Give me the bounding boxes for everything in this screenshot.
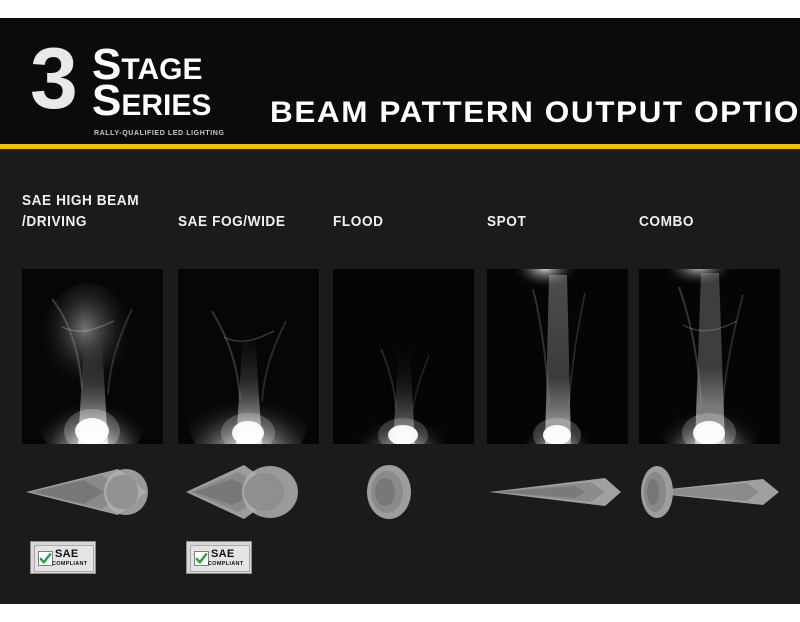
- beam-diagram-spot-shape: [487, 461, 635, 523]
- infographic-card: 3 STAGE SERIES RALLY-QUALIFIED LED LIGHT…: [0, 18, 800, 604]
- beam-diagram-flood-shape: [333, 461, 481, 523]
- beam-column-spot: SPOT: [487, 149, 635, 604]
- beam-column-combo: COMBO: [639, 149, 787, 604]
- sae-badge-title: SAE: [211, 548, 235, 560]
- logo-numeral-3: 3: [30, 36, 75, 122]
- beam-column-driving: SAE HIGH BEAM /DRIVING: [22, 149, 170, 604]
- beam-photo-driving: [22, 269, 163, 444]
- beam-photo-wide: [178, 269, 319, 444]
- beam-label-driving: SAE HIGH BEAM /DRIVING: [22, 191, 177, 233]
- sae-badge-subtitle: COMPLIANT: [52, 561, 87, 567]
- beam-column-flood: FLOOD: [333, 149, 481, 604]
- beam-label-combo: COMBO: [639, 212, 794, 233]
- check-icon: [38, 551, 53, 566]
- beam-column-wide: SAE FOG/WIDE: [178, 149, 326, 604]
- beam-photo-flood: [333, 269, 474, 444]
- header-bar: 3 STAGE SERIES RALLY-QUALIFIED LED LIGHT…: [0, 18, 800, 144]
- beam-photo-spot: [487, 269, 628, 444]
- sae-badge-title: SAE: [55, 548, 79, 560]
- beam-diagram-flood: [333, 461, 481, 523]
- beam-diagram-combo-shape: [639, 461, 787, 523]
- beam-diagram-combo: [639, 461, 787, 523]
- check-icon: [194, 551, 209, 566]
- sae-compliant-badge-wide: SAE COMPLIANT: [186, 541, 252, 574]
- beam-pattern-infographic: 3 STAGE SERIES RALLY-QUALIFIED LED LIGHT…: [0, 0, 800, 622]
- logo-tagline: RALLY-QUALIFIED LED LIGHTING: [94, 130, 225, 137]
- beam-photo-combo-render: [639, 269, 780, 444]
- beam-diagram-wide: [178, 461, 326, 523]
- beam-label-spot: SPOT: [487, 212, 642, 233]
- sae-badge-subtitle: COMPLIANT: [208, 561, 243, 567]
- page-title: BEAM PATTERN OUTPUT OPTIONS: [270, 96, 800, 130]
- beam-photo-combo: [639, 269, 780, 444]
- beam-label-wide: SAE FOG/WIDE: [178, 212, 333, 233]
- beam-photo-flood-render: [333, 269, 474, 444]
- beam-photo-wide-render: [178, 269, 319, 444]
- beam-label-flood: FLOOD: [333, 212, 488, 233]
- beam-diagram-driving-shape: [22, 461, 170, 523]
- beam-photo-driving-render: [22, 269, 163, 444]
- logo-word-series: SERIES: [92, 84, 211, 123]
- beam-photo-spot-render: [487, 269, 628, 444]
- beam-diagram-driving: [22, 461, 170, 523]
- beam-diagram-spot: [487, 461, 635, 523]
- beam-pattern-columns: SAE HIGH BEAM /DRIVING: [0, 149, 800, 604]
- sae-compliant-badge-driving: SAE COMPLIANT: [30, 541, 96, 574]
- beam-diagram-wide-shape: [178, 461, 326, 523]
- diode-dynamics-3-stage-series-logo: 3 STAGE SERIES RALLY-QUALIFIED LED LIGHT…: [30, 40, 240, 136]
